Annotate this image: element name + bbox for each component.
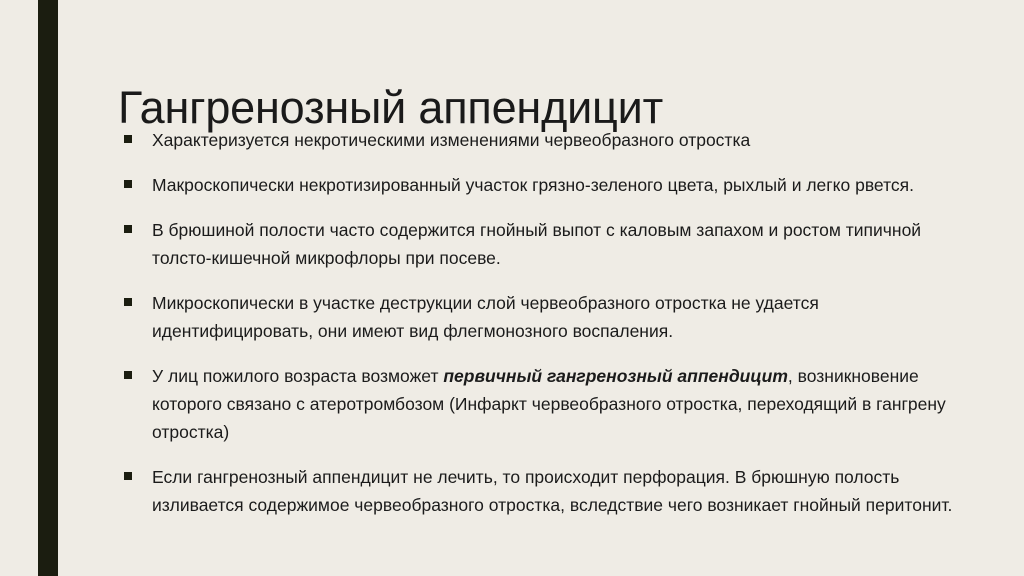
bullet-square-icon (124, 472, 132, 480)
list-item-text: Макроскопически некротизированный участо… (152, 171, 980, 199)
bullet-square-icon (124, 180, 132, 188)
list-item: Макроскопически некротизированный участо… (118, 171, 980, 199)
list-item: Микроскопически в участке деструкции сло… (118, 289, 980, 345)
list-item-text: В брюшиной полости часто содержится гной… (152, 216, 980, 272)
bullet-square-icon (124, 298, 132, 306)
slide-content: Гангренозный аппендицит Характеризуется … (118, 0, 998, 576)
bullet-square-icon (124, 371, 132, 379)
slide-canvas: Гангренозный аппендицит Характеризуется … (0, 0, 1024, 576)
list-item: В брюшиной полости часто содержится гной… (118, 216, 980, 272)
list-item-text: Микроскопически в участке деструкции сло… (152, 289, 980, 345)
list-item-text-emphasis: первичный гангренозный аппендицит (443, 366, 788, 386)
bullet-square-icon (124, 135, 132, 143)
left-accent-bar (38, 0, 58, 576)
bullet-square-icon (124, 225, 132, 233)
list-item-text: Характеризуется некротическими изменения… (152, 126, 980, 154)
bullet-list: Характеризуется некротическими изменения… (118, 126, 980, 519)
list-item: Характеризуется некротическими изменения… (118, 126, 980, 154)
list-item-text-before: У лиц пожилого возраста возможет (152, 366, 443, 386)
list-item: Если гангренозный аппендицит не лечить, … (118, 463, 980, 519)
list-item-text: Если гангренозный аппендицит не лечить, … (152, 463, 980, 519)
list-item: У лиц пожилого возраста возможет первичн… (118, 362, 980, 446)
list-item-text: У лиц пожилого возраста возможет первичн… (152, 362, 980, 446)
